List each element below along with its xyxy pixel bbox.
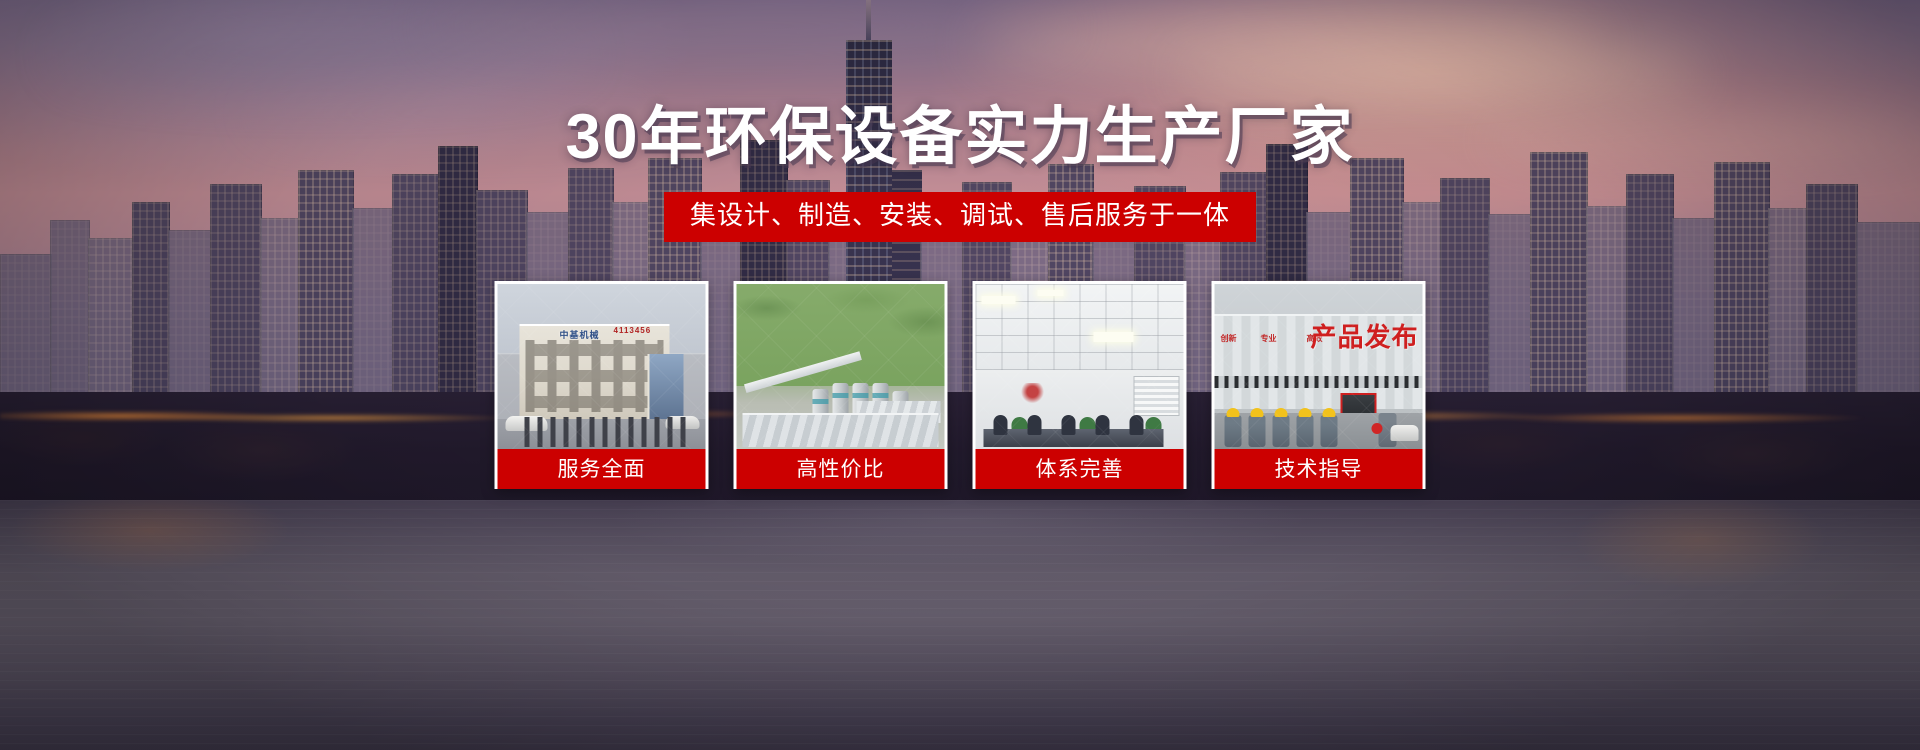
banner-subtitle-badge: 集设计、制造、安装、调试、售后服务于一体	[664, 192, 1256, 242]
workshop-slogan-text: 专业	[1261, 334, 1277, 343]
feature-card-caption: 服务全面	[498, 449, 706, 489]
company-headquarters-photo: 中基机械 4113456	[498, 284, 706, 449]
building-phone-text: 4113456	[614, 326, 652, 335]
feature-card-caption: 技术指导	[1215, 449, 1423, 489]
banner-content: 30年环保设备实力生产厂家 集设计、制造、安装、调试、售后服务于一体 中基机械 …	[0, 0, 1920, 750]
feature-card-caption: 体系完善	[976, 449, 1184, 489]
banner-headline: 30年环保设备实力生产厂家	[0, 103, 1920, 172]
workshop-banner-text: 产品发布	[1310, 317, 1418, 354]
workshop-exterior-workers-photo: 创新 专业 高效 产品发布	[1215, 284, 1423, 449]
feature-card[interactable]: 中基机械 4113456 服务全面	[495, 281, 709, 489]
office-interior-photo	[976, 284, 1184, 449]
banner-subtitle-text: 集设计、制造、安装、调试、售后服务于一体	[690, 200, 1230, 230]
feature-card-caption: 高性价比	[737, 449, 945, 489]
building-sign-text: 中基机械	[560, 328, 600, 341]
feature-card-list: 中基机械 4113456 服务全面	[495, 281, 1426, 489]
feature-card[interactable]: 高性价比	[734, 281, 948, 489]
feature-card[interactable]: 创新 专业 高效 产品发布	[1212, 281, 1426, 489]
workshop-slogan-text: 创新	[1221, 334, 1237, 343]
hero-banner: 30年环保设备实力生产厂家 集设计、制造、安装、调试、售后服务于一体 中基机械 …	[0, 0, 1920, 750]
feature-card[interactable]: 体系完善	[973, 281, 1187, 489]
aerial-factory-plant-photo	[737, 284, 945, 449]
